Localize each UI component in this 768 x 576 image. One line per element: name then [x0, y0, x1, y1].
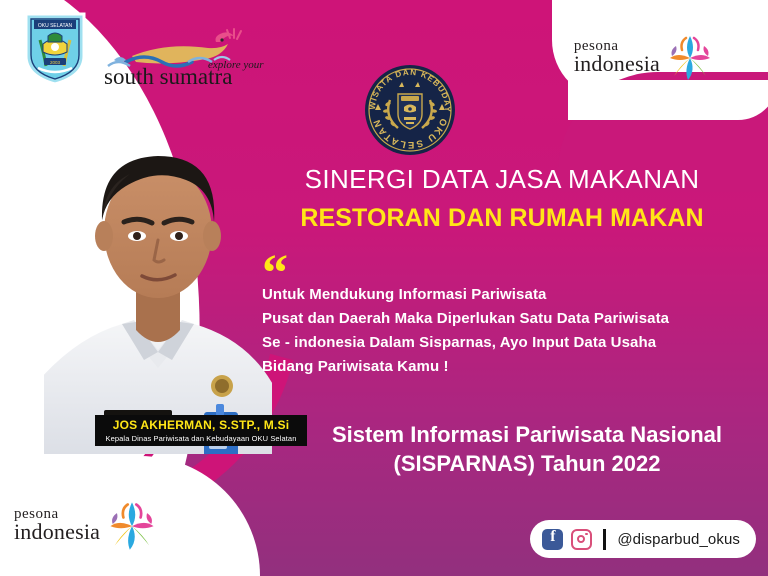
facebook-icon[interactable] — [542, 529, 563, 550]
indonesia-word: indonesia — [574, 54, 660, 74]
quote-line: Pusat dan Daerah Maka Diperlukan Satu Da… — [262, 307, 732, 331]
quote-line: Se - indonesia Dalam Sisparnas, Ayo Inpu… — [262, 331, 732, 355]
official-nameplate: JOS AKHERMAN, S.STP., M.Si Kepala Dinas … — [95, 415, 307, 446]
pesona-swirl-icon — [664, 32, 716, 82]
background-white-curve-top-right — [568, 80, 768, 120]
headline-secondary: RESTORAN DAN RUMAH MAKAN — [252, 204, 752, 233]
oku-selatan-crest-icon: OKU SELATAN 2003 — [22, 8, 88, 86]
pesona-swirl-icon — [104, 498, 160, 552]
svg-text:south sumatra: south sumatra — [104, 64, 232, 88]
official-role: Kepala Dinas Pariwisata dan Kebudayaan O… — [95, 433, 307, 443]
quote-text-block: Untuk Mendukung Informasi Pariwisata Pus… — [262, 283, 732, 379]
pariwisata-kebudayaan-seal-icon: PARIWISATA DAN KEBUDAYAAN OKU SELATAN — [364, 64, 456, 156]
svg-text:OKU SELATAN: OKU SELATAN — [38, 23, 73, 29]
svg-text:2003: 2003 — [50, 60, 61, 65]
pesona-indonesia-logo-bottom-left: pesona indonesia — [14, 498, 160, 552]
social-divider — [603, 529, 606, 550]
quote-line: Untuk Mendukung Informasi Pariwisata — [262, 283, 732, 307]
program-title-line-1: Sistem Informasi Pariwisata Nasional — [296, 420, 758, 449]
quote-line: Bidang Pariwisata Kamu ! — [262, 355, 732, 379]
promotional-poster: JOS AKHERMAN JOS AKHERMAN, S.STP., M.Si … — [0, 0, 768, 576]
official-portrait-photo: JOS AKHERMAN — [44, 124, 272, 454]
official-name: JOS AKHERMAN, S.STP., M.Si — [95, 417, 307, 433]
headline-block: SINERGI DATA JASA MAKANAN RESTORAN DAN R… — [252, 164, 752, 233]
indonesia-word: indonesia — [14, 522, 100, 542]
instagram-icon[interactable] — [571, 529, 592, 550]
program-title-line-2: (SISPARNAS) Tahun 2022 — [296, 449, 758, 478]
social-handle-text: @disparbud_okus — [617, 531, 740, 548]
south-sumatra-logo: explore your south sumatra — [96, 26, 276, 88]
social-handle-bar[interactable]: @disparbud_okus — [530, 520, 756, 558]
headline-primary: SINERGI DATA JASA MAKANAN — [252, 164, 752, 195]
pesona-indonesia-logo-top-right: pesona indonesia — [574, 32, 716, 82]
program-title-block: Sistem Informasi Pariwisata Nasional (SI… — [296, 420, 758, 478]
